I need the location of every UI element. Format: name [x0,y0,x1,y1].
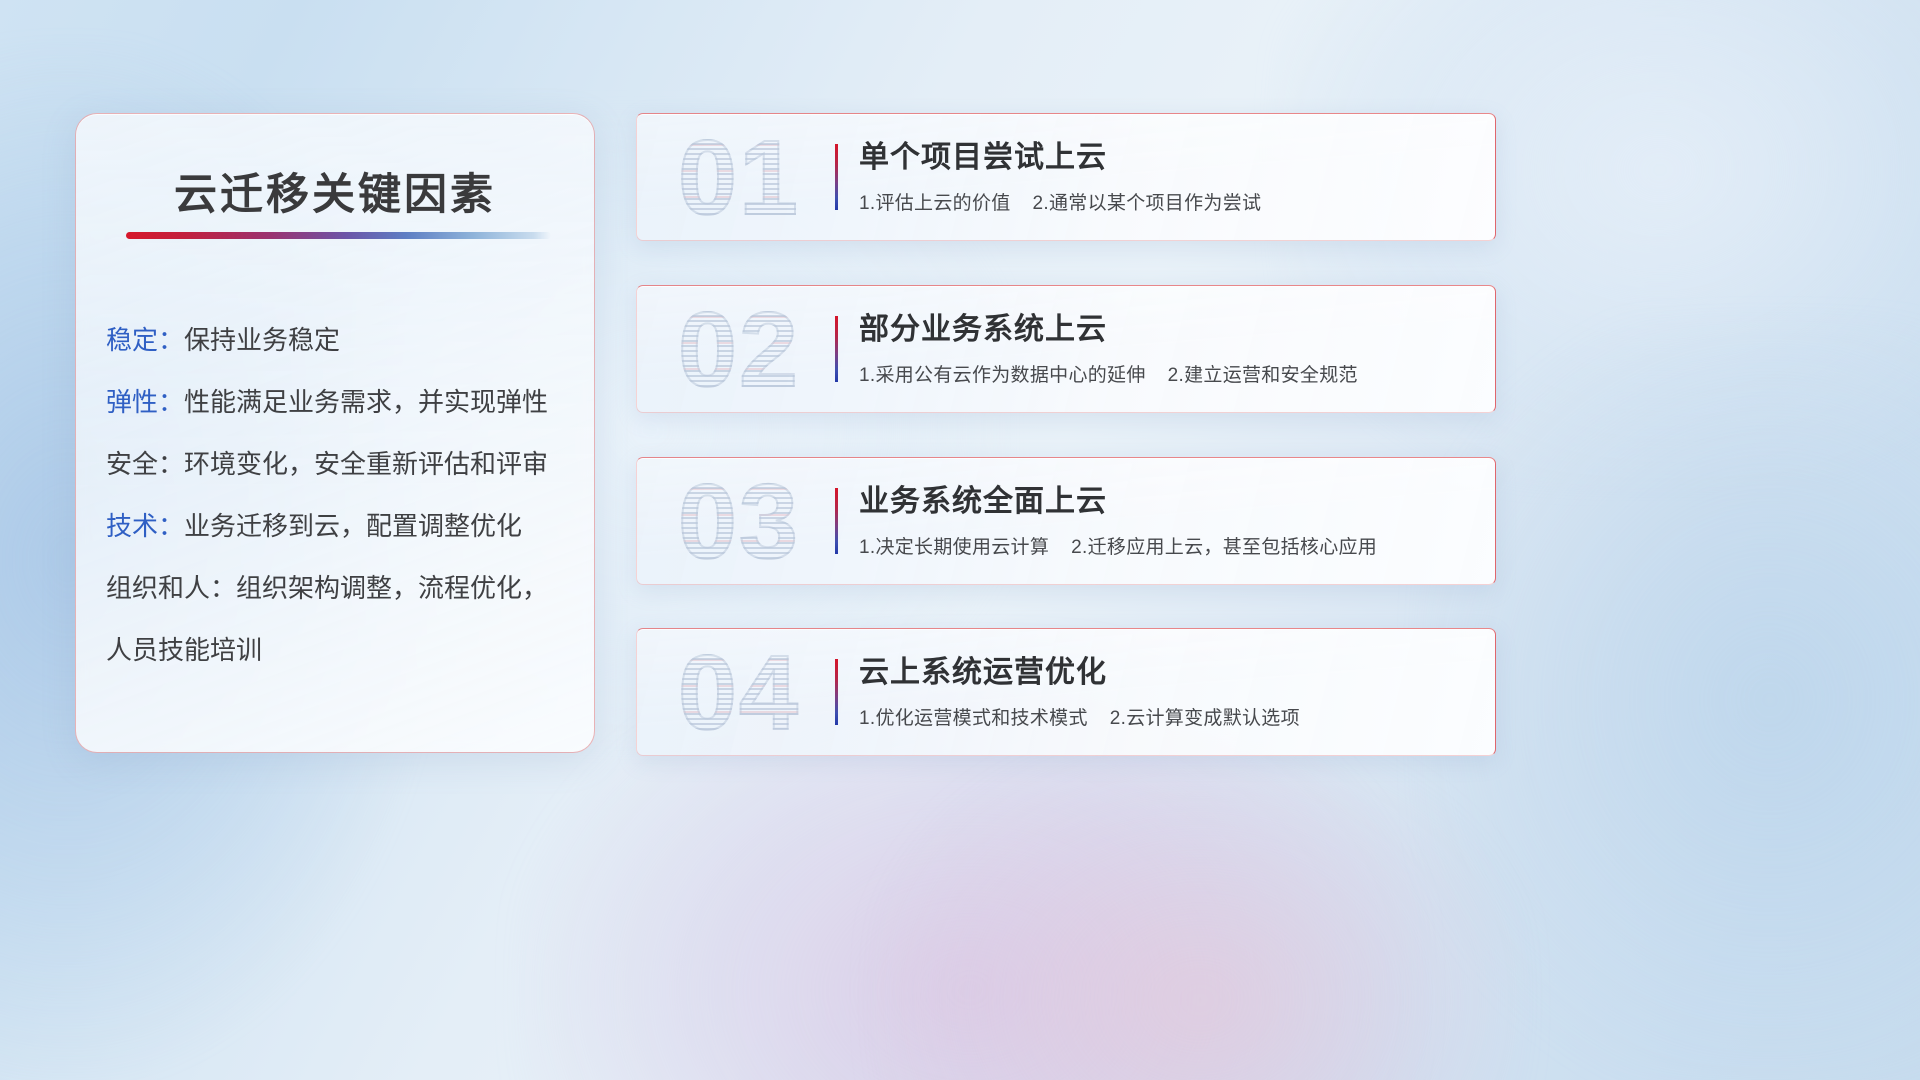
step-description: 1.采用公有云作为数据中心的延伸2.建立运营和安全规范 [859,360,1477,387]
step-divider [835,316,838,382]
step-card[interactable]: 02 部分业务系统上云 1.采用公有云作为数据中心的延伸2.建立运营和安全规范 [636,285,1496,413]
list-item-text: 人员技能培训 [106,635,262,665]
list-item-label: 组织和人： [106,573,236,603]
step-description: 1.决定长期使用云计算2.迁移应用上云，甚至包括核心应用 [859,532,1477,559]
step-number: 01 [659,118,819,238]
list-item-text: 性能满足业务需求，并实现弹性 [184,387,548,417]
step-title: 部分业务系统上云 [859,308,1477,352]
background-glow-pink [880,740,1520,1080]
step-number: 04 [659,633,819,753]
step-description: 1.优化运营模式和技术模式2.云计算变成默认选项 [859,703,1477,730]
step-card[interactable]: 03 业务系统全面上云 1.决定长期使用云计算2.迁移应用上云，甚至包括核心应用 [636,457,1496,585]
key-factors-panel: 云迁移关键因素 稳定：保持业务稳定 弹性：性能满足业务需求，并实现弹性 安全：环… [75,113,595,753]
list-item-text: 业务迁移到云，配置调整优化 [184,511,522,541]
panel-title: 云迁移关键因素 [76,160,594,222]
step-text-block: 部分业务系统上云 1.采用公有云作为数据中心的延伸2.建立运营和安全规范 [859,308,1477,387]
step-text-block: 云上系统运营优化 1.优化运营模式和技术模式2.云计算变成默认选项 [859,651,1477,730]
list-item-text: 环境变化，安全重新评估和评审 [184,449,548,479]
step-point: 2.云计算变成默认选项 [1110,708,1300,729]
step-card[interactable]: 04 云上系统运营优化 1.优化运营模式和技术模式2.云计算变成默认选项 [636,628,1496,756]
step-point: 1.评估上云的价值 [859,193,1011,214]
step-number: 02 [659,290,819,410]
list-item-label: 弹性： [106,387,184,417]
key-factors-list: 稳定：保持业务稳定 弹性：性能满足业务需求，并实现弹性 安全：环境变化，安全重新… [106,309,568,681]
step-card[interactable]: 01 单个项目尝试上云 1.评估上云的价值2.通常以某个项目作为尝试 [636,113,1496,241]
step-point: 2.通常以某个项目作为尝试 [1033,193,1262,214]
step-divider [835,144,838,210]
step-text-block: 业务系统全面上云 1.决定长期使用云计算2.迁移应用上云，甚至包括核心应用 [859,480,1477,559]
list-item: 稳定：保持业务稳定 [106,309,568,371]
list-item-text: 组织架构调整，流程优化， [236,573,548,603]
list-item: 弹性：性能满足业务需求，并实现弹性 [106,371,568,433]
list-item-label: 稳定： [106,325,184,355]
step-description: 1.评估上云的价值2.通常以某个项目作为尝试 [859,188,1477,215]
step-point: 2.建立运营和安全规范 [1168,365,1358,386]
step-text-block: 单个项目尝试上云 1.评估上云的价值2.通常以某个项目作为尝试 [859,136,1477,215]
list-item: 组织和人：组织架构调整，流程优化， [106,557,568,619]
list-item-label: 安全： [106,449,184,479]
list-item: 技术：业务迁移到云，配置调整优化 [106,495,568,557]
step-number: 03 [659,462,819,582]
step-point: 2.迁移应用上云，甚至包括核心应用 [1071,537,1377,558]
step-divider [835,488,838,554]
step-title: 单个项目尝试上云 [859,136,1477,180]
list-item: 人员技能培训 [106,619,568,681]
list-item-text: 保持业务稳定 [184,325,340,355]
panel-title-underline [126,232,551,239]
list-item: 安全：环境变化，安全重新评估和评审 [106,433,568,495]
step-title: 业务系统全面上云 [859,480,1477,524]
step-title: 云上系统运营优化 [859,651,1477,695]
step-point: 1.决定长期使用云计算 [859,537,1049,558]
step-point: 1.优化运营模式和技术模式 [859,708,1088,729]
list-item-label: 技术： [106,511,184,541]
step-divider [835,659,838,725]
step-point: 1.采用公有云作为数据中心的延伸 [859,365,1146,386]
